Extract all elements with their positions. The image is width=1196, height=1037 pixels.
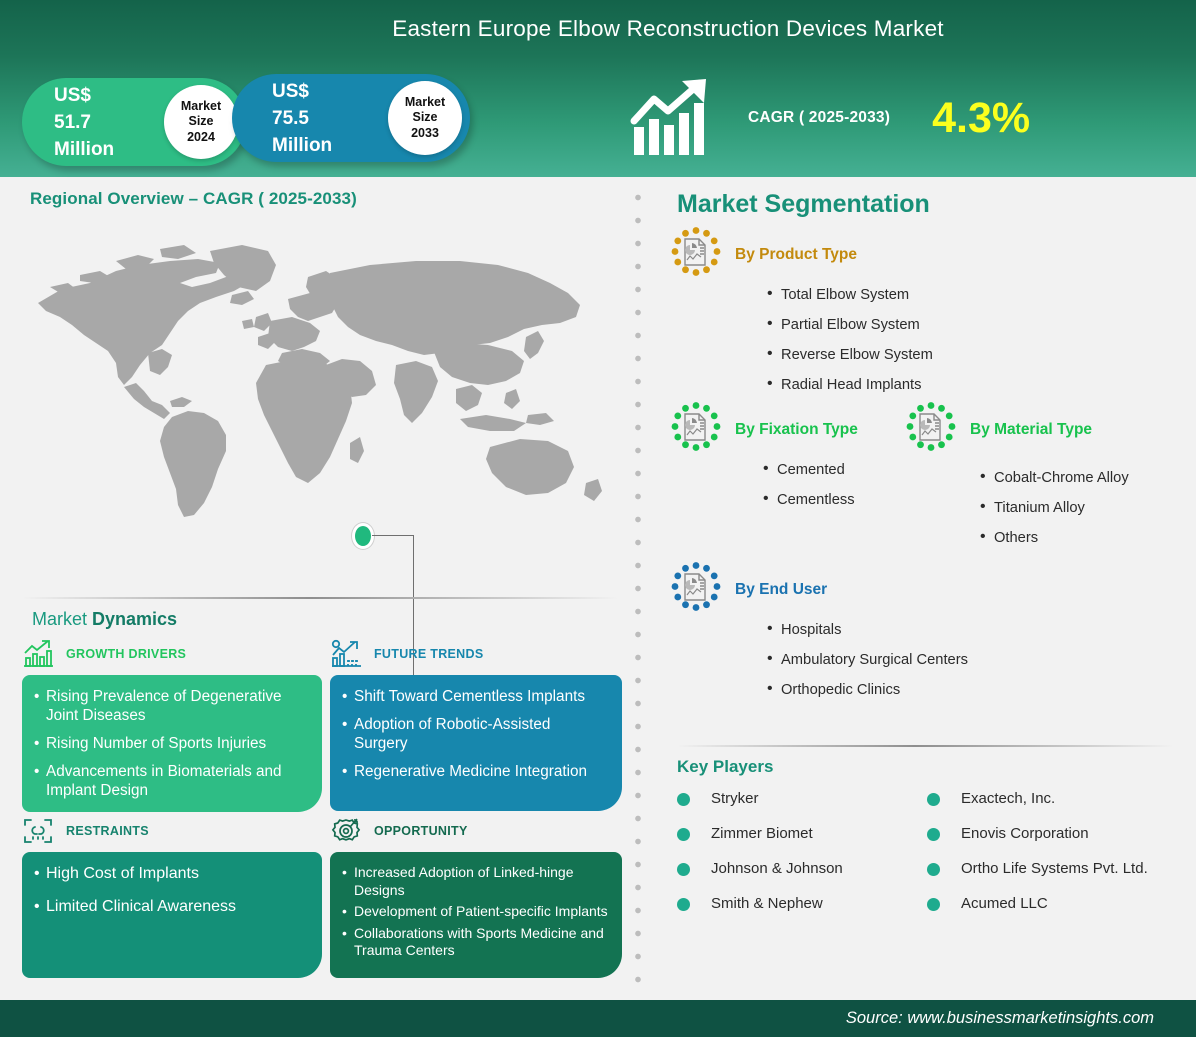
list-item: Advancements in Biomaterials and Implant… bbox=[34, 762, 308, 800]
bullet-dot-icon bbox=[677, 828, 690, 841]
material-type-list: Cobalt-Chrome Alloy Titanium Alloy Other… bbox=[978, 468, 1129, 548]
end-user-header: By End User bbox=[665, 562, 968, 624]
list-item: Ortho Life Systems Pvt. Ltd. bbox=[927, 859, 1177, 878]
bullet-dot-icon bbox=[927, 828, 940, 841]
market-size-2033-pill: US$ 75.5 Million Market Size 2033 bbox=[232, 74, 470, 162]
restraints-box: High Cost of Implants Limited Clinical A… bbox=[22, 852, 322, 978]
list-item: Stryker bbox=[677, 789, 927, 808]
header-banner: Eastern Europe Elbow Reconstruction Devi… bbox=[0, 0, 1196, 177]
gear-target-opportunity-icon bbox=[330, 816, 362, 846]
currency-2033: US$ bbox=[272, 78, 382, 105]
list-item: Rising Number of Sports Injuries bbox=[34, 734, 308, 753]
dynamics-title-light: Market bbox=[32, 609, 92, 629]
list-item: Smith & Nephew bbox=[677, 894, 927, 913]
opportunity-label: OPPORTUNITY bbox=[374, 824, 468, 838]
cagr-block: CAGR ( 2025-2033) 4.3% bbox=[630, 70, 1150, 166]
key-players-column-left: Stryker Zimmer Biomet Johnson & Johnson … bbox=[677, 789, 927, 929]
market-size-2033-badge: Market Size 2033 bbox=[388, 81, 462, 155]
regional-overview-title: Regional Overview – CAGR ( 2025-2033) bbox=[30, 189, 357, 209]
report-document-chart-icon bbox=[665, 227, 727, 289]
list-item: High Cost of Implants bbox=[34, 864, 308, 883]
dynamics-title-bold: Dynamics bbox=[92, 609, 177, 629]
unit-2024: Million bbox=[54, 136, 164, 163]
growth-drivers-header: GROWTH DRIVERS bbox=[22, 637, 322, 671]
product-type-list: Total Elbow System Partial Elbow System … bbox=[765, 285, 933, 395]
market-size-2024-text: US$ 51.7 Million bbox=[54, 82, 164, 163]
divider-right bbox=[677, 745, 1173, 747]
list-item: Zimmer Biomet bbox=[677, 824, 927, 843]
list-item: Regenerative Medicine Integration bbox=[342, 762, 608, 781]
divider-left bbox=[22, 597, 618, 599]
list-item: Partial Elbow System bbox=[765, 315, 933, 335]
map-pin-marker-icon bbox=[352, 523, 374, 549]
list-item: Increased Adoption of Linked-hinge Desig… bbox=[342, 864, 608, 899]
opportunity-list: Increased Adoption of Linked-hinge Desig… bbox=[342, 864, 608, 960]
key-player-name: Smith & Nephew bbox=[711, 894, 823, 913]
badge-line-3: 2033 bbox=[411, 126, 439, 142]
list-item: Ambulatory Surgical Centers bbox=[765, 650, 968, 670]
list-item: Cementless bbox=[761, 490, 858, 510]
list-item: Johnson & Johnson bbox=[677, 859, 927, 878]
segment-group-fixation-type: By Fixation Type Cemented Cementless bbox=[665, 402, 858, 520]
key-player-name: Exactech, Inc. bbox=[961, 789, 1055, 808]
key-player-name: Zimmer Biomet bbox=[711, 824, 813, 843]
growth-chart-up-icon bbox=[22, 639, 54, 669]
list-item: Hospitals bbox=[765, 620, 968, 640]
list-item: Limited Clinical Awareness bbox=[34, 897, 308, 916]
bullet-dot-icon bbox=[677, 863, 690, 876]
opportunity-header: OPPORTUNITY bbox=[330, 814, 622, 848]
key-players-title: Key Players bbox=[677, 757, 773, 777]
badge-line-1: Market bbox=[181, 99, 221, 115]
report-document-chart-icon bbox=[900, 402, 962, 464]
left-column: Regional Overview – CAGR ( 2025-2033) bbox=[0, 177, 638, 1000]
badge-line-2: Size bbox=[188, 114, 213, 130]
future-trends-label: FUTURE TRENDS bbox=[374, 647, 483, 661]
list-item: Rising Prevalence of Degenerative Joint … bbox=[34, 687, 308, 725]
market-size-2024-pill: US$ 51.7 Million Market Size 2024 bbox=[22, 78, 246, 166]
quadrant-opportunity: OPPORTUNITY Increased Adoption of Linked… bbox=[330, 814, 622, 978]
list-item: Enovis Corporation bbox=[927, 824, 1177, 843]
list-item: Acumed LLC bbox=[927, 894, 1177, 913]
list-item: Radial Head Implants bbox=[765, 375, 933, 395]
product-type-header: By Product Type bbox=[665, 227, 933, 289]
list-item: Reverse Elbow System bbox=[765, 345, 933, 365]
future-trends-chart-icon bbox=[330, 639, 362, 669]
badge-line-2: Size bbox=[412, 110, 437, 126]
leader-line-horizontal bbox=[372, 535, 414, 536]
quadrant-restraints: RESTRAINTS High Cost of Implants Limited… bbox=[22, 814, 322, 978]
key-player-name: Acumed LLC bbox=[961, 894, 1048, 913]
key-player-name: Johnson & Johnson bbox=[711, 859, 843, 878]
quadrant-growth-drivers: GROWTH DRIVERS Rising Prevalence of Dege… bbox=[22, 637, 322, 812]
restraints-list: High Cost of Implants Limited Clinical A… bbox=[34, 864, 308, 916]
list-item: Cobalt-Chrome Alloy bbox=[978, 468, 1129, 488]
restraints-header: RESTRAINTS bbox=[22, 814, 322, 848]
list-item: Adoption of Robotic-Assisted Surgery bbox=[342, 715, 608, 753]
list-item: Collaborations with Sports Medicine and … bbox=[342, 925, 608, 960]
list-item: Orthopedic Clinics bbox=[765, 680, 968, 700]
growth-bar-chart-arrow-icon bbox=[630, 77, 722, 159]
material-type-name: By Material Type bbox=[970, 421, 1092, 439]
fixation-type-name: By Fixation Type bbox=[735, 421, 858, 439]
growth-drivers-box: Rising Prevalence of Degenerative Joint … bbox=[22, 675, 322, 812]
source-text: Source: www.businessmarketinsights.com bbox=[846, 1009, 1154, 1028]
material-type-header: By Material Type bbox=[900, 402, 1129, 464]
report-document-chart-icon bbox=[665, 562, 727, 624]
key-player-name: Ortho Life Systems Pvt. Ltd. bbox=[961, 859, 1148, 878]
list-item: Total Elbow System bbox=[765, 285, 933, 305]
key-player-name: Enovis Corporation bbox=[961, 824, 1089, 843]
opportunity-box: Increased Adoption of Linked-hinge Desig… bbox=[330, 852, 622, 978]
key-players-column-right: Exactech, Inc. Enovis Corporation Ortho … bbox=[927, 789, 1177, 929]
market-size-2033-text: US$ 75.5 Million bbox=[272, 78, 382, 159]
key-players-columns: Stryker Zimmer Biomet Johnson & Johnson … bbox=[677, 789, 1177, 929]
world-map bbox=[20, 225, 620, 570]
market-size-2024-badge: Market Size 2024 bbox=[164, 85, 238, 159]
badge-line-3: 2024 bbox=[187, 130, 215, 146]
list-item: Exactech, Inc. bbox=[927, 789, 1177, 808]
bullet-dot-icon bbox=[927, 898, 940, 911]
market-segmentation-title: Market Segmentation bbox=[677, 190, 930, 219]
growth-drivers-list: Rising Prevalence of Degenerative Joint … bbox=[34, 687, 308, 800]
vertical-dotted-divider bbox=[633, 186, 643, 998]
list-item: Others bbox=[978, 528, 1129, 548]
list-item: Titanium Alloy bbox=[978, 498, 1129, 518]
fixation-type-header: By Fixation Type bbox=[665, 402, 858, 464]
right-column: Market Segmentation By Pro bbox=[655, 177, 1196, 1000]
world-map-svg bbox=[20, 225, 620, 525]
page-title: Eastern Europe Elbow Reconstruction Devi… bbox=[0, 16, 1196, 42]
quadrant-future-trends: FUTURE TRENDS Shift Toward Cementless Im… bbox=[330, 637, 622, 811]
future-trends-list: Shift Toward Cementless Implants Adoptio… bbox=[342, 687, 608, 781]
value-2024: 51.7 bbox=[54, 109, 164, 136]
footer-bar: Source: www.businessmarketinsights.com bbox=[0, 1000, 1196, 1037]
currency-2024: US$ bbox=[54, 82, 164, 109]
restraints-label: RESTRAINTS bbox=[66, 824, 149, 838]
report-document-chart-icon bbox=[665, 402, 727, 464]
segment-group-product-type: By Product Type Total Elbow System Parti… bbox=[665, 227, 933, 405]
end-user-list: Hospitals Ambulatory Surgical Centers Or… bbox=[765, 620, 968, 700]
future-trends-header: FUTURE TRENDS bbox=[330, 637, 622, 671]
fixation-type-list: Cemented Cementless bbox=[761, 460, 858, 510]
value-2033: 75.5 bbox=[272, 105, 382, 132]
cagr-value: 4.3% bbox=[932, 97, 1030, 140]
end-user-name: By End User bbox=[735, 581, 827, 599]
future-trends-box: Shift Toward Cementless Implants Adoptio… bbox=[330, 675, 622, 811]
list-item: Shift Toward Cementless Implants bbox=[342, 687, 608, 706]
segment-group-end-user: By End User Hospitals Ambulatory Surgica… bbox=[665, 562, 968, 710]
list-item: Development of Patient-specific Implants bbox=[342, 903, 608, 921]
key-player-name: Stryker bbox=[711, 789, 759, 808]
segment-group-material-type: By Material Type Cobalt-Chrome Alloy Tit… bbox=[900, 402, 1129, 558]
bullet-dot-icon bbox=[677, 898, 690, 911]
bullet-dot-icon bbox=[927, 863, 940, 876]
growth-drivers-label: GROWTH DRIVERS bbox=[66, 647, 186, 661]
unit-2033: Million bbox=[272, 132, 382, 159]
list-item: Cemented bbox=[761, 460, 858, 480]
product-type-name: By Product Type bbox=[735, 246, 857, 264]
broken-link-restraint-icon bbox=[22, 816, 54, 846]
market-dynamics-title: Market Dynamics bbox=[32, 609, 177, 630]
bullet-dot-icon bbox=[927, 793, 940, 806]
badge-line-1: Market bbox=[405, 95, 445, 111]
bullet-dot-icon bbox=[677, 793, 690, 806]
cagr-label: CAGR ( 2025-2033) bbox=[748, 109, 890, 127]
